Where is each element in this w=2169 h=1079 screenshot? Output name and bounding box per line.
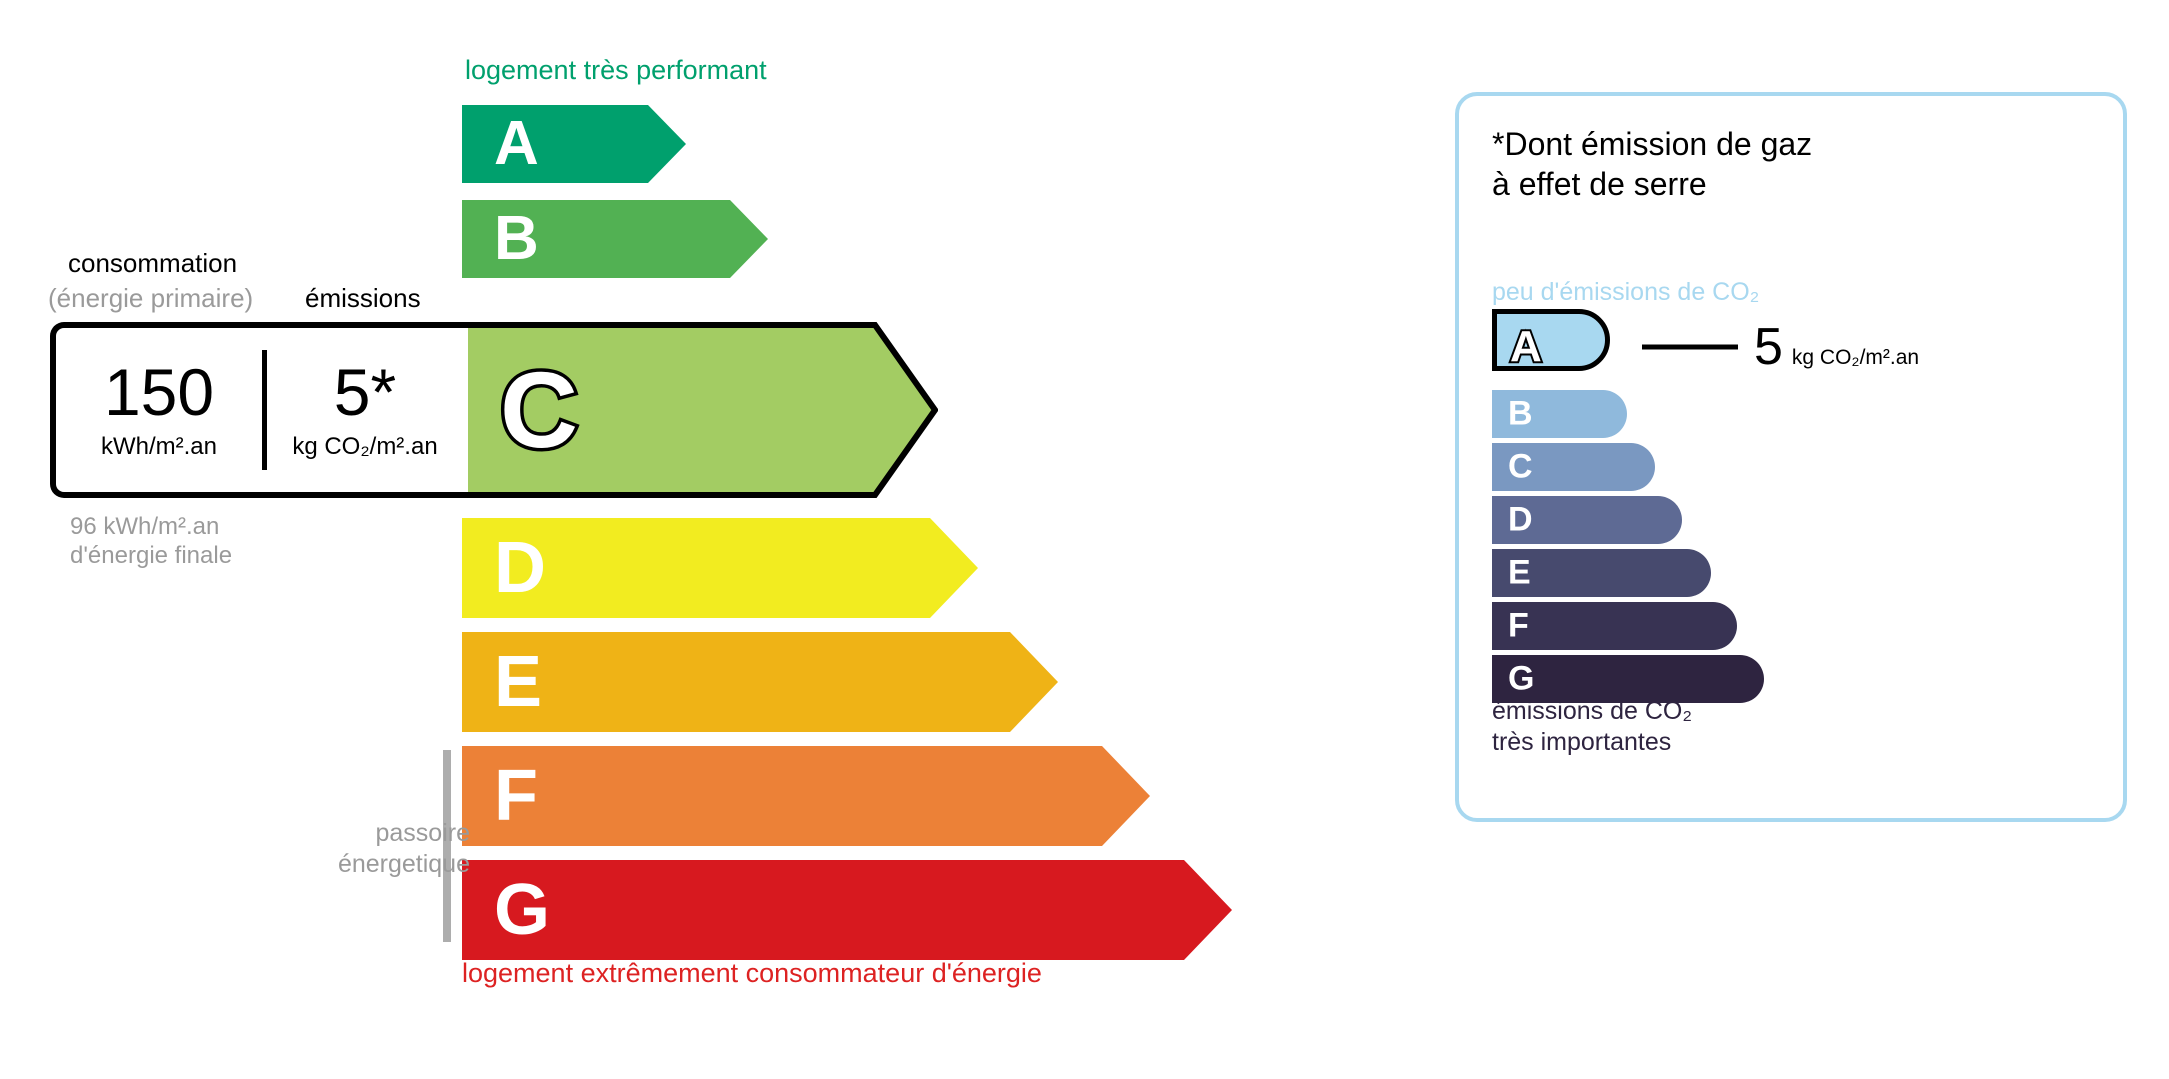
energy-arrow-f: F — [462, 746, 1150, 846]
co2-leader-line — [1642, 345, 1738, 350]
co2-letter-e: E — [1508, 554, 1531, 593]
energy-arrow-c: C — [462, 322, 938, 498]
final-energy-value: 96 kWh/m².an — [70, 512, 232, 541]
consumption-sublabel: (énergie primaire) — [48, 283, 253, 314]
energy-letter-c: C — [500, 356, 578, 464]
energy-letter-b: B — [494, 208, 539, 270]
energy-letter-f: F — [494, 760, 538, 832]
consumption-value: 150 — [104, 359, 214, 425]
co2-bottom-line-2: très importantes — [1492, 727, 1692, 758]
co2-value-group: 5 kg CO₂/m².an — [1754, 321, 1919, 373]
co2-unit: kg CO₂/m².an — [1792, 346, 1919, 370]
energy-arrow-b: B — [462, 200, 768, 278]
energy-letter-g: G — [494, 874, 550, 946]
co2-top-caption: peu d'émissions de CO₂ — [1492, 278, 1759, 307]
energy-bottom-caption: logement extrêmement consommateur d'éner… — [462, 958, 1042, 989]
energy-letter-d: D — [494, 532, 546, 604]
energy-arrow-g: G — [462, 860, 1232, 960]
passoire-label: passoire énergetique — [280, 818, 470, 879]
energy-arrow-e: E — [462, 632, 1058, 732]
energy-arrow-d: D — [462, 518, 978, 618]
arrow-shape-g — [462, 860, 1232, 960]
consumption-label: consommation — [68, 248, 237, 279]
energy-value-box: 150 kWh/m².an 5* kg CO₂/m².an — [50, 322, 468, 498]
co2-letter-d: D — [1508, 501, 1533, 540]
co2-panel-title: *Dont émission de gaz à effet de serre — [1492, 124, 1812, 204]
energy-arrow-a: A — [462, 105, 686, 183]
co2-letter-g: G — [1508, 660, 1534, 699]
emissions-value: 5* — [334, 359, 396, 425]
energy-row-d[interactable]: D — [462, 518, 978, 618]
energy-row-g[interactable]: G — [462, 860, 1232, 960]
co2-letter-a: A — [1510, 322, 1542, 372]
co2-title-line-1: *Dont émission de gaz — [1492, 124, 1812, 164]
energy-letter-a: A — [494, 113, 539, 175]
co2-letter-b: B — [1508, 395, 1533, 434]
arrow-shape-e — [462, 632, 1058, 732]
energy-top-caption: logement très performant — [465, 55, 767, 86]
co2-emissions-panel: *Dont émission de gaz à effet de serre p… — [1455, 92, 2127, 822]
final-energy-note: 96 kWh/m².an d'énergie finale — [70, 512, 232, 571]
energy-row-a[interactable]: A — [462, 105, 686, 183]
arrow-shape-f — [462, 746, 1150, 846]
emissions-value-cell: 5* kg CO₂/m².an — [262, 328, 468, 492]
energy-row-b[interactable]: B — [462, 200, 768, 278]
energy-row-e[interactable]: E — [462, 632, 1058, 732]
co2-bottom-line-1: émissions de CO₂ — [1492, 696, 1692, 727]
consumption-unit: kWh/m².an — [101, 433, 217, 461]
passoire-line-1: passoire — [280, 818, 470, 849]
co2-value: 5 — [1754, 321, 1783, 373]
energy-consumption-scale: logement très performant consommation (é… — [0, 0, 1400, 1079]
co2-title-line-2: à effet de serre — [1492, 164, 1812, 204]
consumption-value-cell: 150 kWh/m².an — [56, 328, 262, 492]
co2-bottom-caption: émissions de CO₂ très importantes — [1492, 696, 1692, 757]
final-energy-label: d'énergie finale — [70, 541, 232, 570]
energy-row-f[interactable]: F — [462, 746, 1150, 846]
energy-letter-e: E — [494, 646, 542, 718]
co2-letter-f: F — [1508, 607, 1529, 646]
passoire-line-2: énergetique — [280, 849, 470, 880]
emissions-unit: kg CO₂/m².an — [292, 433, 437, 461]
emissions-label: émissions — [305, 283, 421, 314]
dpe-energy-label: logement très performant consommation (é… — [0, 0, 2169, 1079]
co2-letter-c: C — [1508, 448, 1533, 487]
